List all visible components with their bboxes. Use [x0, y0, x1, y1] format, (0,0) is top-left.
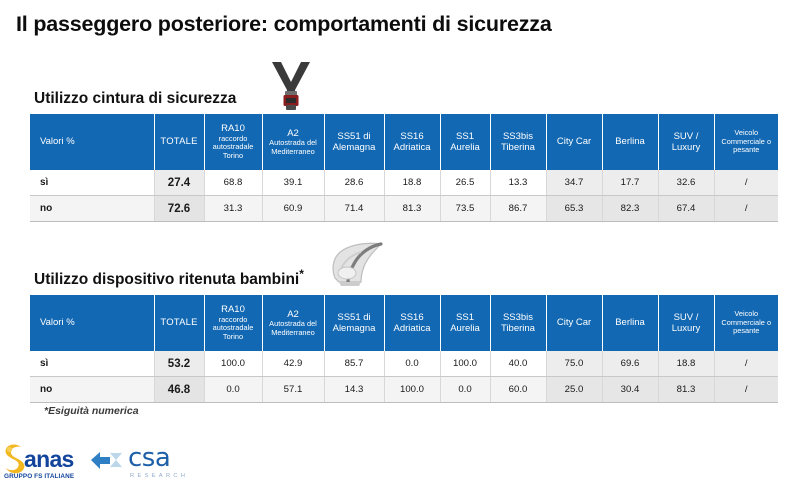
- col-header-ss51: SS51 di Alemagna: [324, 114, 384, 170]
- cell-value: 60.9: [262, 196, 324, 222]
- child-car-seat-icon: [325, 238, 387, 293]
- col-header-totale: TOTALE: [154, 114, 204, 170]
- cell-value: 73.5: [440, 196, 490, 222]
- logo-bar: anas GRUPPO FS ITALIANE csa RESEARCH: [2, 440, 302, 486]
- anas-logo: anas GRUPPO FS ITALIANE: [2, 442, 88, 484]
- col-header-ss16: SS16 Adriatica: [384, 114, 440, 170]
- cell-value: 81.3: [658, 377, 714, 403]
- cell-total: 72.6: [154, 196, 204, 222]
- cell-value: /: [714, 377, 778, 403]
- table-row: sì 27.4 68.8 39.1 28.6 18.8 26.5 13.3 34…: [30, 170, 778, 196]
- csa-logo-subtitle: RESEARCH: [130, 473, 188, 479]
- cell-value: 14.3: [324, 377, 384, 403]
- col-header-ss16: SS16 Adriatica: [384, 295, 440, 351]
- col-header-suv: SUV / Luxury: [658, 114, 714, 170]
- col-header-valori: Valori %: [30, 295, 154, 351]
- col-header-ra10: RA10 raccordo autostradale Torino: [204, 295, 262, 351]
- col-header-berlina: Berlina: [602, 295, 658, 351]
- cell-value: 28.6: [324, 170, 384, 196]
- table-header-row: Valori % TOTALE RA10 raccordo autostrada…: [30, 295, 778, 351]
- row-label: sì: [30, 170, 154, 196]
- cell-value: 86.7: [490, 196, 546, 222]
- seatbelt-buckle-icon: [266, 60, 316, 117]
- section-heading-child-restraint: Utilizzo dispositivo ritenuta bambini*: [34, 267, 304, 289]
- csa-logo-word: csa: [128, 445, 170, 471]
- cell-value: 40.0: [490, 351, 546, 377]
- cell-value: 85.7: [324, 351, 384, 377]
- cell-value: 13.3: [490, 170, 546, 196]
- table-seatbelt-usage: Valori % TOTALE RA10 raccordo autostrada…: [30, 114, 778, 222]
- col-header-valori: Valori %: [30, 114, 154, 170]
- cell-value: /: [714, 196, 778, 222]
- col-header-ss51: SS51 di Alemagna: [324, 295, 384, 351]
- cell-value: 68.8: [204, 170, 262, 196]
- cell-value: 34.7: [546, 170, 602, 196]
- cell-value: /: [714, 351, 778, 377]
- cell-value: 31.3: [204, 196, 262, 222]
- cell-total: 27.4: [154, 170, 204, 196]
- cell-total: 53.2: [154, 351, 204, 377]
- cell-value: 0.0: [440, 377, 490, 403]
- col-header-suv: SUV / Luxury: [658, 295, 714, 351]
- cell-value: 75.0: [546, 351, 602, 377]
- cell-value: 32.6: [658, 170, 714, 196]
- table-row: no 72.6 31.3 60.9 71.4 81.3 73.5 86.7 65…: [30, 196, 778, 222]
- col-header-citycar: City Car: [546, 114, 602, 170]
- section-heading-text: Utilizzo cintura di sicurezza: [34, 90, 236, 107]
- table-row: sì 53.2 100.0 42.9 85.7 0.0 100.0 40.0 7…: [30, 351, 778, 377]
- col-header-berlina: Berlina: [602, 114, 658, 170]
- cell-value: 39.1: [262, 170, 324, 196]
- cell-value: 67.4: [658, 196, 714, 222]
- cell-total: 46.8: [154, 377, 204, 403]
- cell-value: 60.0: [490, 377, 546, 403]
- col-header-veicolo-commerciale: Veicolo Commerciale o pesante: [714, 114, 778, 170]
- section-heading-star: *: [299, 267, 304, 281]
- cell-value: 18.8: [658, 351, 714, 377]
- cell-value: 65.3: [546, 196, 602, 222]
- row-label: no: [30, 377, 154, 403]
- table-header-row: Valori % TOTALE RA10 raccordo autostrada…: [30, 114, 778, 170]
- cell-value: 71.4: [324, 196, 384, 222]
- col-header-ra10: RA10 raccordo autostradale Torino: [204, 114, 262, 170]
- cell-value: 100.0: [440, 351, 490, 377]
- col-header-veicolo-commerciale: Veicolo Commerciale o pesante: [714, 295, 778, 351]
- cell-value: 30.4: [602, 377, 658, 403]
- cell-value: 17.7: [602, 170, 658, 196]
- cell-value: 57.1: [262, 377, 324, 403]
- cell-value: 100.0: [204, 351, 262, 377]
- section-heading-seatbelt: Utilizzo cintura di sicurezza: [34, 86, 236, 108]
- col-header-a2: A2 Autostrada del Mediterraneo: [262, 295, 324, 351]
- cell-value: 25.0: [546, 377, 602, 403]
- page-title: Il passeggero posteriore: comportamenti …: [16, 12, 552, 37]
- col-header-ss3bis: SS3bis Tiberina: [490, 114, 546, 170]
- cell-value: 82.3: [602, 196, 658, 222]
- table-child-restraint-usage: Valori % TOTALE RA10 raccordo autostrada…: [30, 295, 778, 403]
- col-header-ss3bis: SS3bis Tiberina: [490, 295, 546, 351]
- anas-logo-subtitle: GRUPPO FS ITALIANE: [4, 473, 74, 480]
- row-label: sì: [30, 351, 154, 377]
- col-header-ss1: SS1 Aurelia: [440, 114, 490, 170]
- col-header-a2: A2 Autostrada del Mediterraneo: [262, 114, 324, 170]
- footnote: *Esiguità numerica: [44, 405, 139, 417]
- col-header-ss1: SS1 Aurelia: [440, 295, 490, 351]
- cell-value: 69.6: [602, 351, 658, 377]
- section-heading-text: Utilizzo dispositivo ritenuta bambini: [34, 271, 299, 288]
- cell-value: 26.5: [440, 170, 490, 196]
- cell-value: 0.0: [384, 351, 440, 377]
- cell-value: 0.0: [204, 377, 262, 403]
- cell-value: 18.8: [384, 170, 440, 196]
- csa-logo: csa RESEARCH: [90, 444, 200, 484]
- anas-logo-word: anas: [24, 448, 74, 471]
- table-row: no 46.8 0.0 57.1 14.3 100.0 0.0 60.0 25.…: [30, 377, 778, 403]
- cell-value: 42.9: [262, 351, 324, 377]
- cell-value: /: [714, 170, 778, 196]
- slide-root: Il passeggero posteriore: comportamenti …: [0, 0, 800, 486]
- col-header-citycar: City Car: [546, 295, 602, 351]
- col-header-totale: TOTALE: [154, 295, 204, 351]
- row-label: no: [30, 196, 154, 222]
- cell-value: 100.0: [384, 377, 440, 403]
- cell-value: 81.3: [384, 196, 440, 222]
